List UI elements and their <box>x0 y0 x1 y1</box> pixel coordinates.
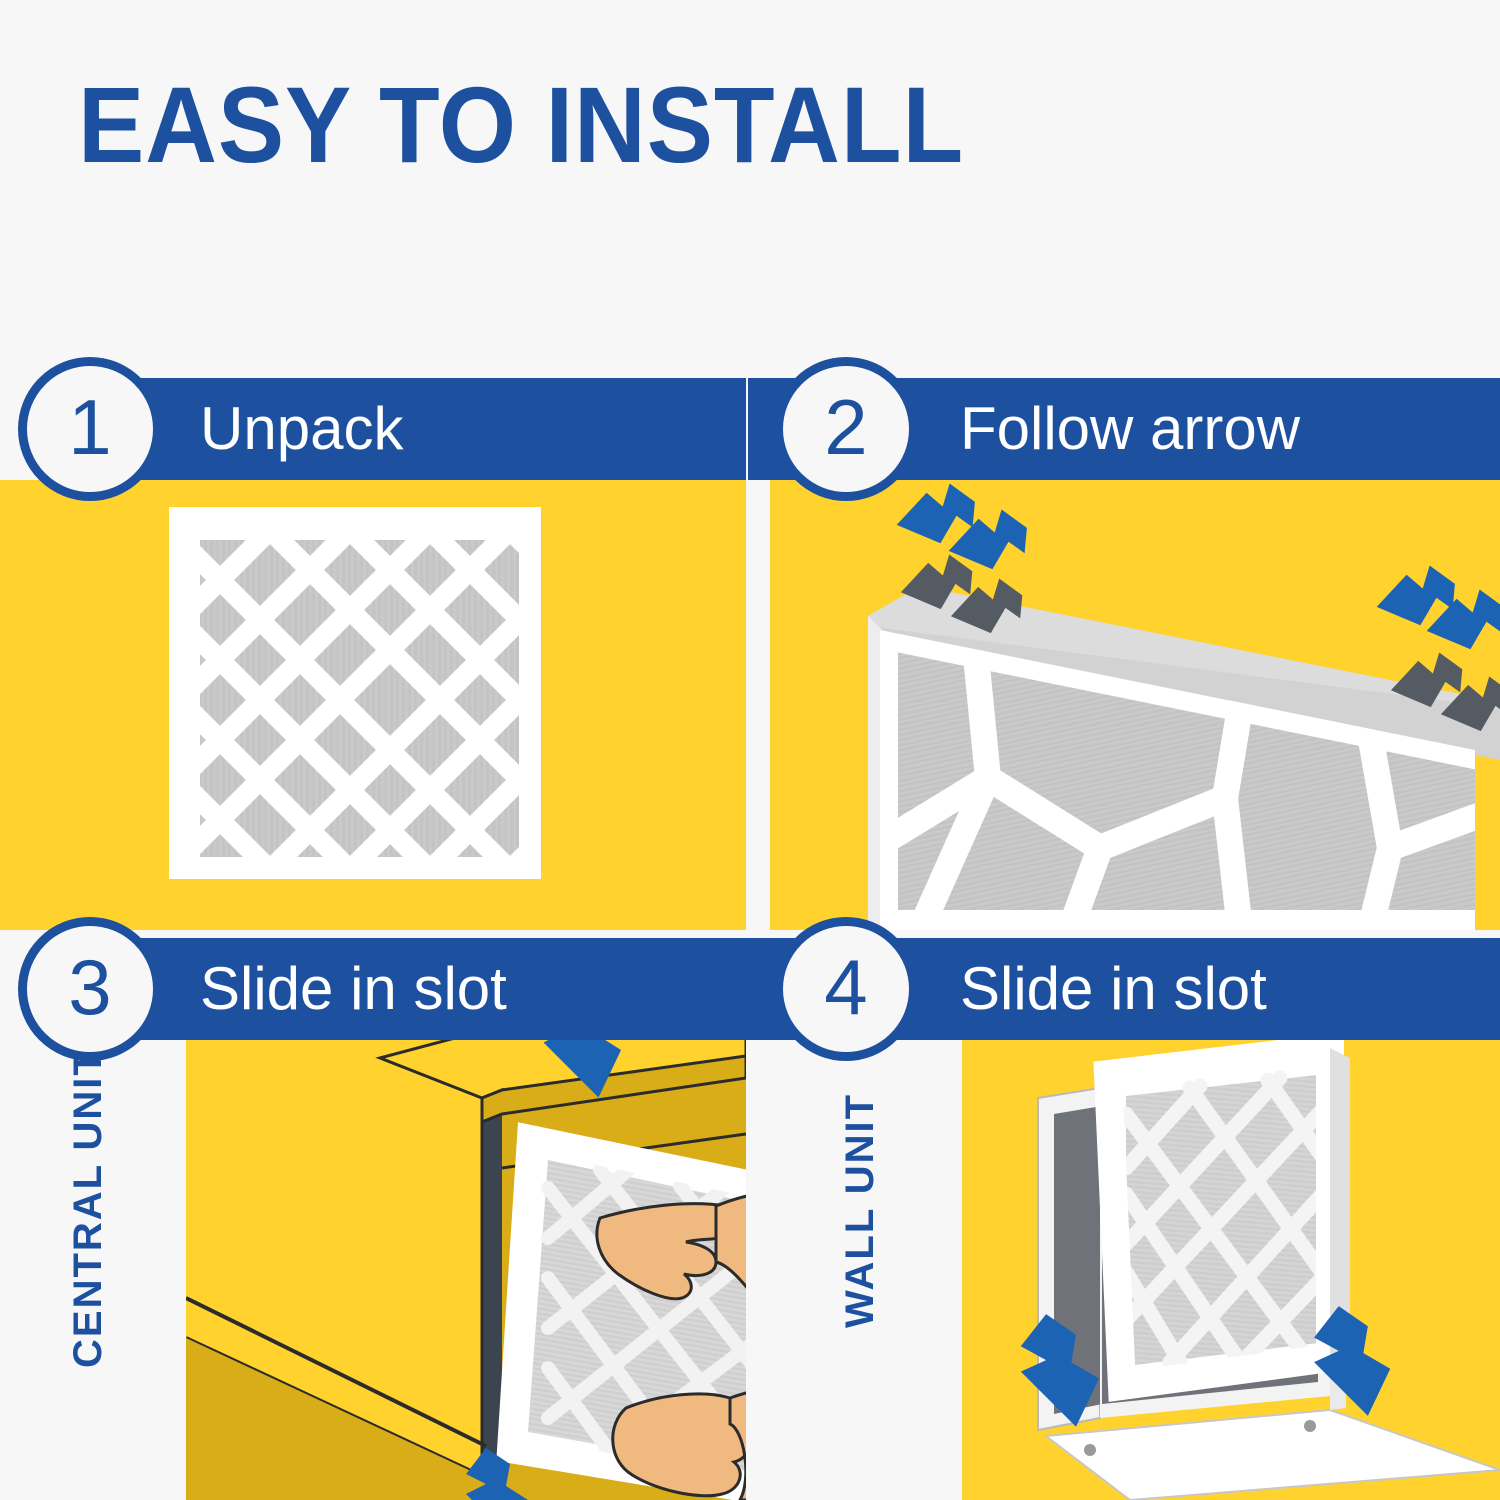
side-label-central-unit: CENTRAL UNIT <box>66 1049 111 1368</box>
step-number-badge-4: 4 <box>774 917 918 1061</box>
airflow-arrow-left <box>897 484 1027 570</box>
step-label-1: Unpack <box>200 378 403 480</box>
step-panel-4: Slide in slot 4 WALL UNIT <box>770 938 1500 1500</box>
step-panel-3: Slide in slot 3 CENTRAL UNIT <box>0 938 746 1500</box>
airflow-arrow-right <box>1377 566 1500 650</box>
page-title: EASY TO INSTALL <box>78 68 964 181</box>
step-label-4: Slide in slot <box>960 938 1267 1040</box>
step-number-2: 2 <box>824 388 867 466</box>
step-label-2: Follow arrow <box>960 378 1300 480</box>
step-number-4: 4 <box>824 948 867 1026</box>
step-panel-2: Follow arrow 2 <box>770 378 1500 930</box>
side-label-wall-unit: WALL UNIT <box>838 1093 883 1328</box>
step-number-badge-1: 1 <box>18 357 162 501</box>
step-number-badge-3: 3 <box>18 917 162 1061</box>
step-number-badge-2: 2 <box>774 357 918 501</box>
step-number-1: 1 <box>68 388 111 466</box>
infographic-root: EASY TO INSTALL <box>0 0 1500 1500</box>
step-number-3: 3 <box>68 948 111 1026</box>
step-label-3: Slide in slot <box>200 938 507 1040</box>
step-panel-1: Unpack 1 <box>0 378 746 930</box>
